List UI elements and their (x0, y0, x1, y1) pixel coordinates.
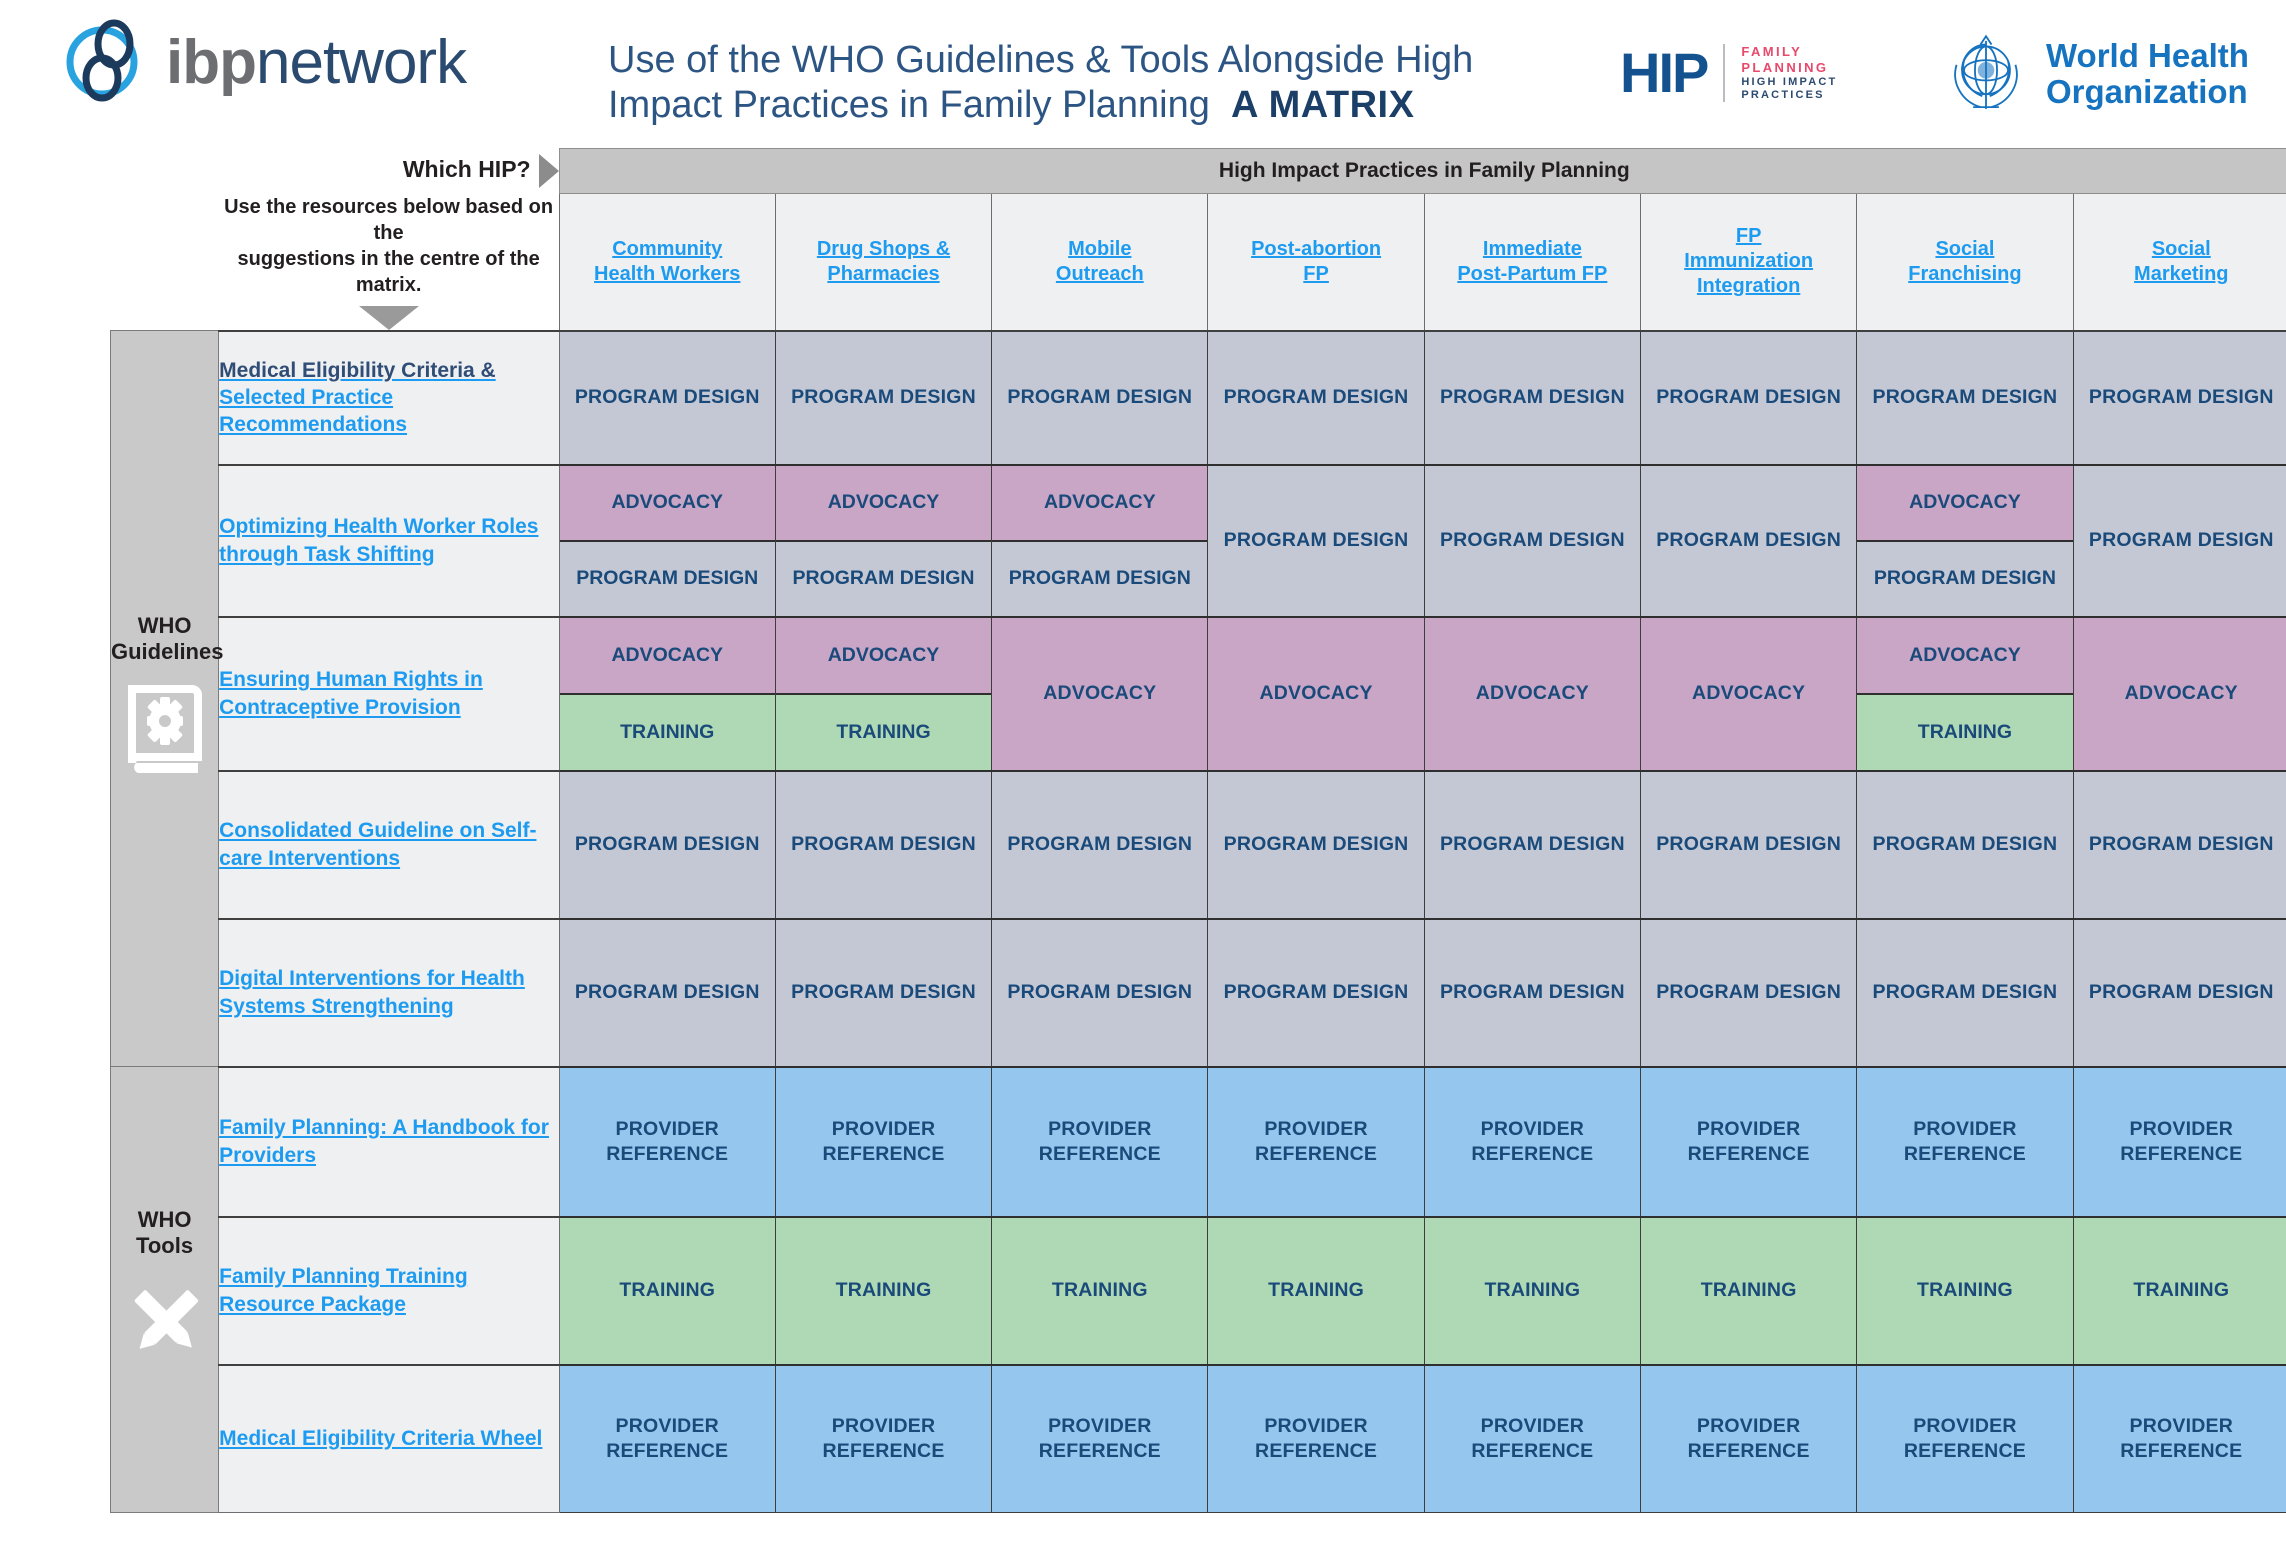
hip-tagline-line-3: HIGH IMPACT (1741, 76, 1837, 89)
matrix-cell: ADVOCACY (1424, 617, 1640, 771)
which-hip-row: Which HIP? High Impact Practices in Fami… (111, 149, 2286, 194)
matrix-cell: ADVOCACY (1641, 617, 1857, 771)
matrix-row: Family Planning Training Resource Packag… (111, 1217, 2286, 1365)
matrix-cell: PROGRAM DESIGN (2073, 331, 2286, 465)
col-1-line-1: Drug Shops & (817, 238, 950, 260)
matrix-cell: PROVIDER REFERENCE (992, 1365, 1208, 1513)
who-logo: World Health Organization (1940, 28, 2249, 120)
corner-blank-rail (111, 194, 219, 331)
hip-tagline-line-2: PLANNING (1741, 60, 1837, 76)
col-2-line-1: Mobile (1068, 238, 1131, 260)
band-title: High Impact Practices in Family Planning (559, 149, 2286, 194)
row-label-part: & (481, 359, 496, 382)
col-4-line-1: Immediate (1483, 238, 1582, 260)
row-label[interactable]: Family Planning: A Handbook for Provider… (219, 1067, 559, 1217)
matrix-cell-part: ADVOCACY (776, 466, 991, 540)
matrix-cell: ADVOCACYPROGRAM DESIGN (559, 465, 775, 617)
row-label[interactable]: Medical Eligibility Criteria Wheel (219, 1365, 559, 1513)
matrix-cell-part: PROGRAM DESIGN (776, 540, 991, 616)
page-header: ibpnetwork Use of the WHO Guidelines & T… (0, 0, 2286, 148)
matrix-body: WHOGuidelinesMedical Eligibility Criteri… (111, 331, 2286, 1513)
matrix-cell: PROGRAM DESIGN (1857, 771, 2073, 919)
row-label-link[interactable]: Medical Eligibility Criteria & Selected … (219, 359, 496, 437)
col-5-line-1: FP (1736, 225, 1762, 247)
row-label-link[interactable]: Digital Interventions for Health Systems… (219, 967, 525, 1017)
matrix-row: Optimizing Health Worker Roles through T… (111, 465, 2286, 617)
row-label-part: Medical Eligibility Criteria (219, 359, 480, 382)
matrix-row: Digital Interventions for Health Systems… (111, 919, 2286, 1067)
col-6-line-1: Social (1935, 238, 1994, 260)
matrix-cell: PROGRAM DESIGN (1641, 331, 1857, 465)
matrix-cell: ADVOCACY (1208, 617, 1424, 771)
column-link-mobile-outreach[interactable]: MobileOutreach (992, 237, 1207, 287)
matrix-cell-part: TRAINING (1857, 693, 2072, 770)
instruction-line-1: Use the resources below based on the (224, 196, 553, 244)
matrix-cell: ADVOCACYPROGRAM DESIGN (1857, 465, 2073, 617)
matrix-cell: PROVIDER REFERENCE (559, 1365, 775, 1513)
matrix-row: Ensuring Human Rights in Contraceptive P… (111, 617, 2286, 771)
matrix-cell: PROGRAM DESIGN (1857, 919, 2073, 1067)
col-7-line-1: Social (2152, 238, 2211, 260)
matrix-cell: PROGRAM DESIGN (1424, 465, 1640, 617)
column-header-post-abortion-fp[interactable]: Post-abortionFP (1208, 194, 1424, 331)
matrix-cell: PROVIDER REFERENCE (559, 1067, 775, 1217)
matrix-cell-part: ADVOCACY (1857, 466, 2072, 540)
matrix-cell: ADVOCACYPROGRAM DESIGN (992, 465, 1208, 617)
network-wordmark: network (256, 28, 466, 97)
matrix-cell: PROVIDER REFERENCE (2073, 1067, 2286, 1217)
matrix-cell: PROGRAM DESIGN (1424, 771, 1640, 919)
column-header-drug-shops-pharmacies[interactable]: Drug Shops &Pharmacies (775, 194, 991, 331)
matrix-cell: TRAINING (2073, 1217, 2286, 1365)
hip-tagline-line-4: PRACTICES (1741, 89, 1837, 102)
row-label[interactable]: Digital Interventions for Health Systems… (219, 919, 559, 1067)
matrix-cell: PROGRAM DESIGN (775, 331, 991, 465)
column-header-social-marketing[interactable]: SocialMarketing (2073, 194, 2286, 331)
column-link-social-franchising[interactable]: SocialFranchising (1857, 237, 2072, 287)
row-label-link[interactable]: Consolidated Guideline on Self-care Inte… (219, 819, 536, 869)
matrix-cell-part: TRAINING (776, 693, 991, 770)
pencil-ruler-icon (111, 1277, 218, 1372)
matrix-cell-part: TRAINING (560, 693, 775, 770)
column-link-drug-shops-pharmacies[interactable]: Drug Shops &Pharmacies (776, 237, 991, 287)
matrix-cell: PROVIDER REFERENCE (775, 1365, 991, 1513)
row-label[interactable]: Ensuring Human Rights in Contraceptive P… (219, 617, 559, 771)
col-4-line-2: Post-Partum FP (1457, 263, 1607, 285)
ibp-wordmark: ibp (166, 28, 256, 97)
who-name-line-1: World Health (2046, 38, 2249, 74)
matrix-cell: PROGRAM DESIGN (1857, 331, 2073, 465)
which-hip-label: Which HIP? (403, 156, 531, 182)
matrix-cell: TRAINING (1857, 1217, 2073, 1365)
column-link-immediate-post-partum-fp[interactable]: ImmediatePost-Partum FP (1425, 237, 1640, 287)
page-title-line-2: Impact Practices in Family Planning (608, 84, 1210, 126)
page-title-badge: A MATRIX (1231, 84, 1414, 126)
col-3-line-2: FP (1303, 263, 1329, 285)
matrix-cell: PROGRAM DESIGN (1424, 331, 1640, 465)
matrix-cell-part: ADVOCACY (776, 618, 991, 693)
column-link-community-health-workers[interactable]: CommunityHealth Workers (560, 237, 775, 287)
hip-logo: HIP FAMILY PLANNING HIGH IMPACT PRACTICE… (1620, 44, 1837, 103)
matrix-cell-part: PROGRAM DESIGN (992, 540, 1207, 616)
matrix-cell: PROVIDER REFERENCE (1857, 1365, 2073, 1513)
row-label-part[interactable]: Selected Practice Recommendations (219, 386, 407, 436)
matrix-cell: ADVOCACYTRAINING (1857, 617, 2073, 771)
who-emblem-icon (1940, 28, 2032, 120)
column-link-post-abortion-fp[interactable]: Post-abortionFP (1208, 237, 1423, 287)
row-label[interactable]: Consolidated Guideline on Self-care Inte… (219, 771, 559, 919)
matrix-cell-part: PROGRAM DESIGN (560, 540, 775, 616)
matrix-cell: TRAINING (1208, 1217, 1424, 1365)
matrix-cell-part: PROGRAM DESIGN (1857, 540, 2072, 616)
matrix-cell: PROVIDER REFERENCE (1857, 1067, 2073, 1217)
matrix-cell: PROVIDER REFERENCE (1208, 1365, 1424, 1513)
matrix-cell: PROGRAM DESIGN (1641, 465, 1857, 617)
section-label: WHOGuidelines (111, 613, 218, 666)
section-rail-who-tools: WHOTools (111, 1067, 219, 1513)
matrix-cell: PROVIDER REFERENCE (1424, 1067, 1640, 1217)
column-header-immediate-post-partum-fp[interactable]: ImmediatePost-Partum FP (1424, 194, 1640, 331)
matrix-cell: PROGRAM DESIGN (559, 331, 775, 465)
row-label-link[interactable]: Medical Eligibility Criteria Wheel (219, 1427, 542, 1450)
col-5-line-3: Integration (1697, 275, 1800, 297)
hip-wordmark: HIP (1620, 45, 1707, 101)
arrow-down-icon (359, 306, 419, 330)
matrix-cell: ADVOCACYTRAINING (559, 617, 775, 771)
matrix-cell: PROGRAM DESIGN (1641, 771, 1857, 919)
matrix-cell: PROGRAM DESIGN (2073, 465, 2286, 617)
instruction-cell: Use the resources below based on the sug… (219, 194, 559, 331)
matrix-cell: ADVOCACY (992, 617, 1208, 771)
column-link-social-marketing[interactable]: SocialMarketing (2074, 237, 2286, 287)
matrix-cell: PROVIDER REFERENCE (1641, 1067, 1857, 1217)
matrix-cell: ADVOCACY (2073, 617, 2286, 771)
matrix-cell: PROGRAM DESIGN (559, 919, 775, 1067)
page-title: Use of the WHO Guidelines & Tools Alongs… (608, 38, 1618, 128)
hip-guidelines-matrix: Which HIP? High Impact Practices in Fami… (110, 148, 2286, 1513)
ibp-network-logo: ibpnetwork (62, 18, 466, 106)
row-label-link[interactable]: Optimizing Health Worker Roles through T… (219, 515, 538, 565)
matrix-cell: PROVIDER REFERENCE (2073, 1365, 2286, 1513)
matrix-cell: PROVIDER REFERENCE (775, 1067, 991, 1217)
row-label[interactable]: Optimizing Health Worker Roles through T… (219, 465, 559, 617)
matrix-cell: PROVIDER REFERENCE (1641, 1365, 1857, 1513)
col-6-line-2: Franchising (1908, 263, 2021, 285)
row-label-link[interactable]: Family Planning: A Handbook for Provider… (219, 1116, 549, 1166)
matrix-row: Consolidated Guideline on Self-care Inte… (111, 771, 2286, 919)
hip-tagline-line-1: FAMILY (1741, 44, 1837, 60)
matrix-cell-part: ADVOCACY (560, 618, 775, 693)
matrix-row: Medical Eligibility Criteria WheelPROVID… (111, 1365, 2286, 1513)
column-link-fp-immunization-integration[interactable]: FPImmunizationIntegration (1641, 224, 1856, 299)
col-0-line-2: Health Workers (594, 263, 740, 285)
col-7-line-2: Marketing (2134, 263, 2228, 285)
column-header-community-health-workers[interactable]: CommunityHealth Workers (559, 194, 775, 331)
which-hip-cell: Which HIP? (219, 149, 559, 194)
col-0-line-1: Community (612, 238, 722, 260)
matrix-container: Which HIP? High Impact Practices in Fami… (0, 148, 2286, 1513)
matrix-head: Which HIP? High Impact Practices in Fami… (111, 149, 2286, 331)
matrix-cell: PROGRAM DESIGN (775, 771, 991, 919)
section-rail-who-guidelines: WHOGuidelines (111, 331, 219, 1067)
column-header-row: Use the resources below based on the sug… (111, 194, 2286, 331)
matrix-cell: PROGRAM DESIGN (1208, 465, 1424, 617)
matrix-cell-part: ADVOCACY (1857, 618, 2072, 693)
matrix-cell: PROGRAM DESIGN (992, 919, 1208, 1067)
matrix-cell: PROVIDER REFERENCE (992, 1067, 1208, 1217)
matrix-cell: PROGRAM DESIGN (1208, 771, 1424, 919)
instruction-line-2: suggestions in the centre of the matrix. (237, 248, 539, 296)
matrix-cell: TRAINING (1424, 1217, 1640, 1365)
row-label-link[interactable]: Family Planning Training Resource Packag… (219, 1265, 468, 1315)
arrow-right-icon (539, 154, 559, 188)
matrix-cell: PROGRAM DESIGN (1641, 919, 1857, 1067)
matrix-cell: TRAINING (775, 1217, 991, 1365)
book-gear-icon (111, 683, 218, 784)
matrix-cell: PROGRAM DESIGN (992, 771, 1208, 919)
matrix-cell: PROGRAM DESIGN (1208, 919, 1424, 1067)
column-header-mobile-outreach[interactable]: MobileOutreach (992, 194, 1208, 331)
section-label: WHOTools (111, 1207, 218, 1260)
matrix-cell: TRAINING (1641, 1217, 1857, 1365)
row-label[interactable]: Family Planning Training Resource Packag… (219, 1217, 559, 1365)
matrix-cell: ADVOCACYPROGRAM DESIGN (775, 465, 991, 617)
matrix-cell: TRAINING (559, 1217, 775, 1365)
column-header-fp-immunization-integration[interactable]: FPImmunizationIntegration (1641, 194, 1857, 331)
page-title-line-1: Use of the WHO Guidelines & Tools Alongs… (608, 39, 1473, 81)
matrix-row: WHOToolsFamily Planning: A Handbook for … (111, 1067, 2286, 1217)
matrix-cell: PROGRAM DESIGN (1424, 919, 1640, 1067)
corner-blank-left (111, 149, 219, 194)
matrix-cell: PROVIDER REFERENCE (1424, 1365, 1640, 1513)
col-2-line-2: Outreach (1056, 263, 1144, 285)
matrix-cell: PROGRAM DESIGN (2073, 919, 2286, 1067)
matrix-cell: PROGRAM DESIGN (2073, 771, 2286, 919)
matrix-cell: PROVIDER REFERENCE (1208, 1067, 1424, 1217)
row-label-link[interactable]: Ensuring Human Rights in Contraceptive P… (219, 668, 483, 718)
row-label[interactable]: Medical Eligibility Criteria & Selected … (219, 331, 559, 465)
matrix-cell: TRAINING (992, 1217, 1208, 1365)
who-name-line-2: Organization (2046, 74, 2249, 110)
matrix-cell-part: ADVOCACY (560, 466, 775, 540)
col-5-line-2: Immunization (1684, 250, 1813, 272)
col-3-line-1: Post-abortion (1251, 238, 1381, 260)
column-header-social-franchising[interactable]: SocialFranchising (1857, 194, 2073, 331)
hip-logo-divider (1723, 44, 1725, 102)
matrix-cell-part: ADVOCACY (992, 466, 1207, 540)
matrix-cell: PROGRAM DESIGN (775, 919, 991, 1067)
matrix-cell: PROGRAM DESIGN (1208, 331, 1424, 465)
col-1-line-2: Pharmacies (827, 263, 939, 285)
matrix-cell: PROGRAM DESIGN (559, 771, 775, 919)
matrix-cell: ADVOCACYTRAINING (775, 617, 991, 771)
matrix-cell: PROGRAM DESIGN (992, 331, 1208, 465)
ibp-logo-icon (62, 18, 162, 106)
matrix-row: WHOGuidelinesMedical Eligibility Criteri… (111, 331, 2286, 465)
